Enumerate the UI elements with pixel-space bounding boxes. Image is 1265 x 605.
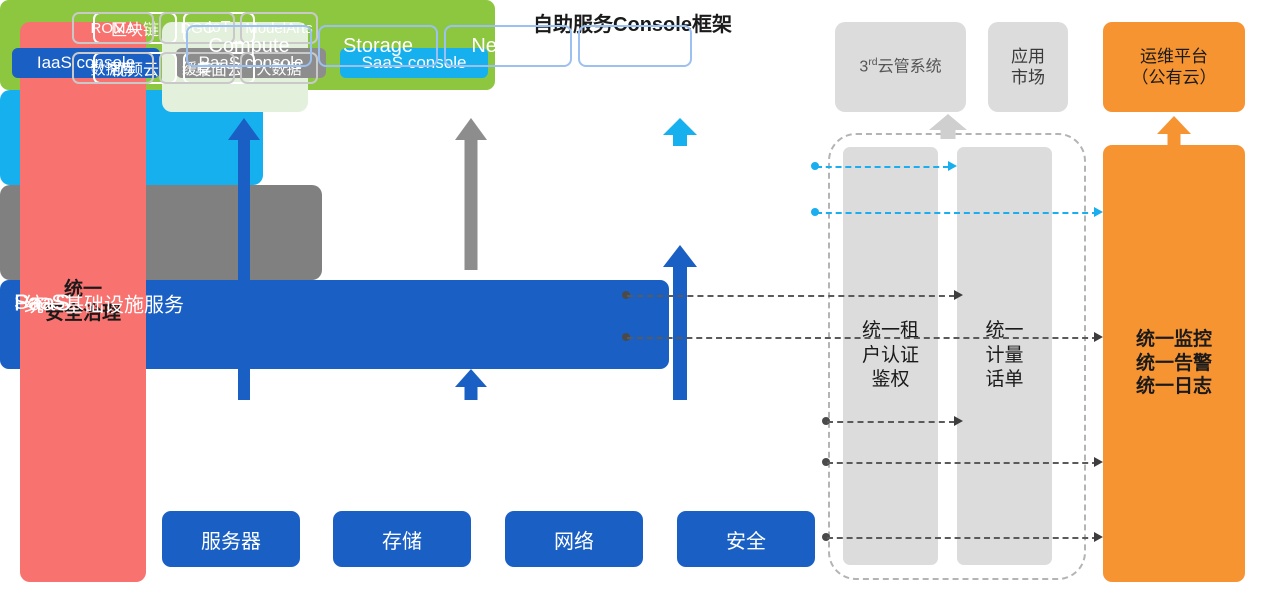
ops-platform-public-cloud-box: 运维平台 （公有云） — [1103, 22, 1245, 112]
dash-line-infra-to-ops — [827, 462, 1098, 464]
dash-arrow-saas-to-ops — [1094, 207, 1103, 217]
arrow-paas-to-console — [455, 118, 487, 270]
arrow-infra-to-paas — [455, 369, 487, 400]
dash-arrow-hardware-to-ops — [1094, 532, 1103, 542]
dash-arrow-infra-to-ops — [1094, 457, 1103, 467]
dash-arrow-infra-to-metering — [954, 416, 963, 426]
arrow-infra-to-saas — [663, 245, 697, 400]
app-market-box: 应用 市场 — [988, 22, 1068, 112]
app-market-label: 应用 市场 — [1011, 46, 1045, 89]
infra-chip-storage[interactable]: Storage — [318, 25, 438, 67]
dash-line-hardware-to-ops — [827, 537, 1098, 539]
ops-platform-public-cloud-label: 运维平台 （公有云） — [1132, 46, 1217, 89]
hardware-box-storage[interactable]: 存储 — [333, 511, 471, 567]
dash-line-infra-to-metering — [827, 421, 955, 423]
dash-arrow-paas-to-auth — [954, 290, 963, 300]
infra-chip-compute[interactable]: Compute — [186, 25, 312, 67]
ops-platform-label: 统一监控 统一告警 统一日志 — [1136, 328, 1212, 399]
paas-chip-database[interactable]: 数据库 — [72, 52, 154, 84]
arrow-to-ops-platform — [1157, 116, 1191, 145]
infra-chip-network[interactable]: Network — [444, 25, 572, 67]
infra-chip-cce[interactable]: CCE — [578, 25, 692, 67]
unified-metering-billing-column: 统一 计量 话单 — [957, 147, 1052, 565]
dash-arrow-paas-to-ops — [1094, 332, 1103, 342]
arrow-infra-to-api-gateway — [228, 118, 260, 400]
unified-tenant-auth-column: 统一租 户认证 鉴权 — [843, 147, 938, 565]
third-party-cloud-mgmt-label: 3rd云管系统 — [859, 56, 941, 77]
paas-chip-roma[interactable]: ROMA — [72, 12, 154, 44]
architecture-diagram: 统一 安全治理 API网关 自助服务Console框架 IaaS console… — [0, 0, 1265, 605]
hardware-box-security[interactable]: 安全 — [677, 511, 815, 567]
dash-line-saas-to-ops — [816, 212, 1098, 214]
ops-platform-panel: 统一监控 统一告警 统一日志 — [1103, 145, 1245, 582]
arrow-to-third-party-cloud — [929, 114, 967, 139]
dash-arrow-saas-to-metering — [948, 161, 957, 171]
hardware-box-network[interactable]: 网络 — [505, 511, 643, 567]
dash-line-paas-to-auth — [627, 295, 955, 297]
arrow-saas-to-console — [663, 118, 697, 146]
dash-line-saas-to-metering — [816, 166, 949, 168]
hardware-box-server[interactable]: 服务器 — [162, 511, 300, 567]
dash-line-paas-to-ops — [627, 337, 1098, 339]
unified-tenant-auth-label: 统一租 户认证 鉴权 — [862, 319, 919, 393]
unified-metering-billing-label: 统一 计量 话单 — [985, 319, 1023, 393]
third-party-cloud-mgmt-box: 3rd云管系统 — [835, 22, 966, 112]
infrastructure-label: 统一基础设施服务 — [24, 288, 184, 317]
